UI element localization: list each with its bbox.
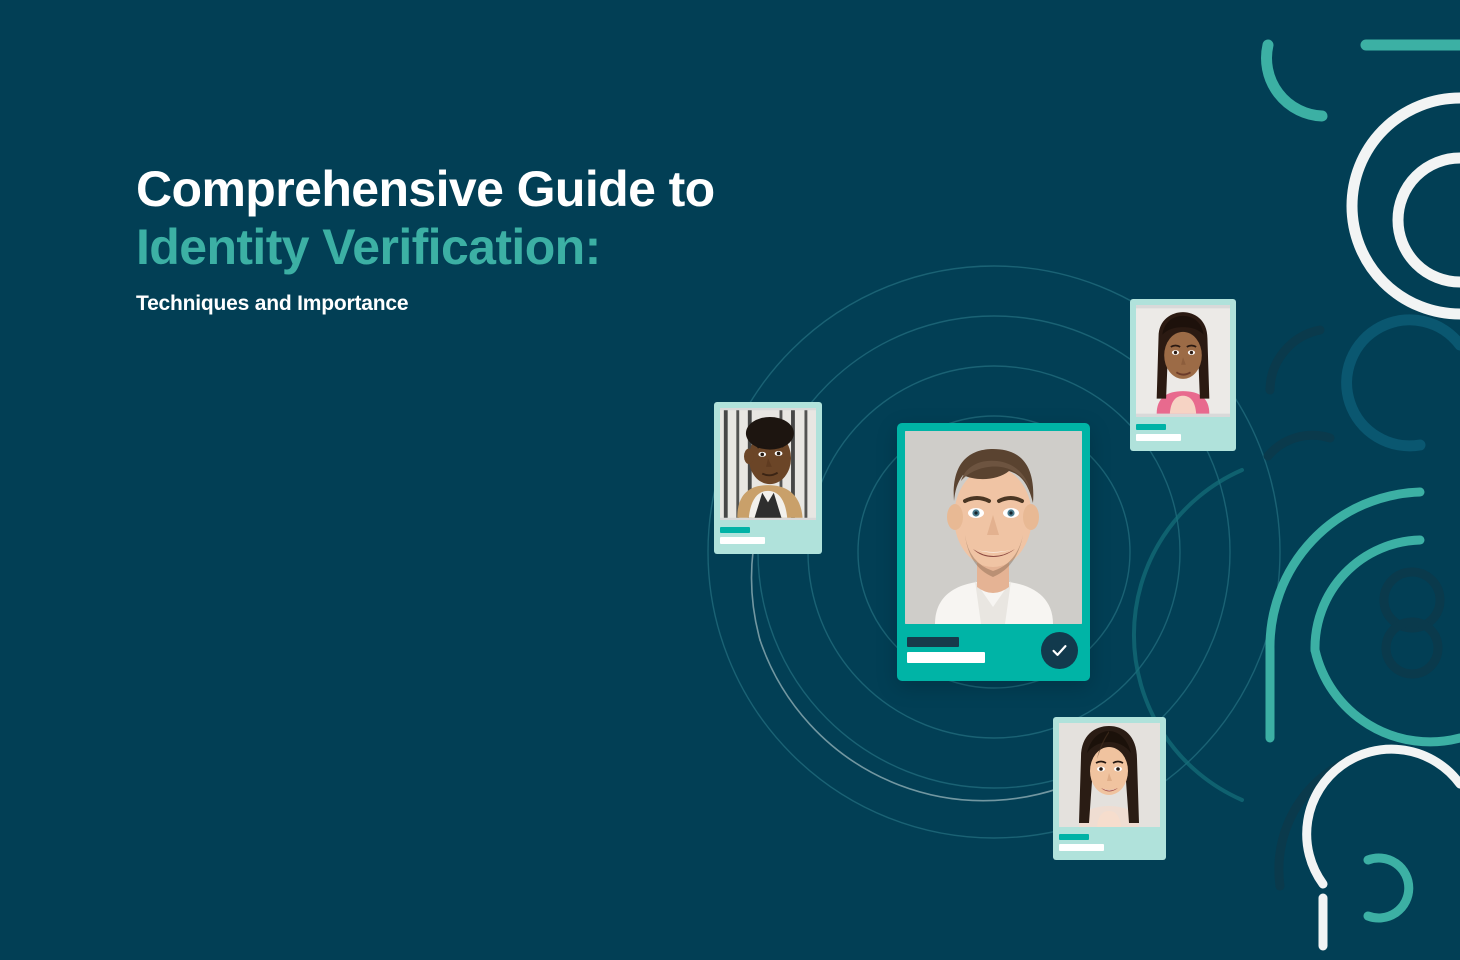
identity-card-top-right[interactable] xyxy=(1130,299,1236,451)
portrait-illustration-bottom xyxy=(1059,723,1160,827)
circle-dark-faint xyxy=(1384,572,1440,628)
redacted-name-bar xyxy=(1059,834,1089,840)
redacted-detail-bar xyxy=(907,652,985,663)
portrait-photo xyxy=(1059,723,1160,827)
page-title-line-2: Identity Verification: xyxy=(136,218,856,276)
redacted-name-bar xyxy=(1136,424,1166,430)
page-title-line-1: Comprehensive Guide to xyxy=(136,160,856,218)
portrait-illustration-top-right xyxy=(1136,305,1230,417)
arc-dark-subtle-1 xyxy=(1270,330,1320,390)
arc-teal-large-2 xyxy=(1315,540,1420,650)
arc-white-inner xyxy=(1398,158,1460,282)
portrait-photo xyxy=(720,408,816,520)
arc-blue-circle xyxy=(1347,320,1460,446)
verified-badge[interactable] xyxy=(1041,632,1078,669)
identity-card-left[interactable] xyxy=(714,402,822,554)
arc-dark-subtle-2 xyxy=(1268,435,1330,456)
arc-teal-small-lower xyxy=(1368,858,1409,918)
redacted-detail-bar xyxy=(1136,434,1181,441)
portrait-photo xyxy=(905,431,1082,624)
arc-teal-lower xyxy=(1315,650,1460,742)
primary-identity-card[interactable] xyxy=(897,423,1090,681)
hero-headline: Comprehensive Guide to Identity Verifica… xyxy=(136,160,856,316)
redacted-name-bar xyxy=(907,637,959,647)
card-meta xyxy=(720,520,816,554)
redacted-name-bar xyxy=(720,527,750,533)
page-subtitle: Techniques and Importance xyxy=(136,292,856,316)
arc-teal-large-1 xyxy=(1270,492,1420,650)
portrait-illustration-main xyxy=(905,431,1082,624)
redacted-detail-bar xyxy=(720,537,765,544)
arc-teal-small-top xyxy=(1267,45,1322,116)
portrait-illustration-left xyxy=(720,408,816,520)
poster-canvas: Comprehensive Guide to Identity Verifica… xyxy=(0,0,1460,960)
arc-white-lower xyxy=(1307,749,1460,884)
redacted-detail-bar xyxy=(1059,844,1104,851)
circle-dark-faint-2 xyxy=(1386,622,1438,674)
arc-white-outer xyxy=(1352,98,1460,314)
card-meta xyxy=(905,624,1082,681)
card-meta xyxy=(1059,827,1160,861)
arc-dark-lower xyxy=(1279,756,1360,886)
card-meta xyxy=(1136,417,1230,451)
portrait-photo xyxy=(1136,305,1230,417)
check-icon xyxy=(1050,641,1069,660)
identity-card-bottom[interactable] xyxy=(1053,717,1166,860)
